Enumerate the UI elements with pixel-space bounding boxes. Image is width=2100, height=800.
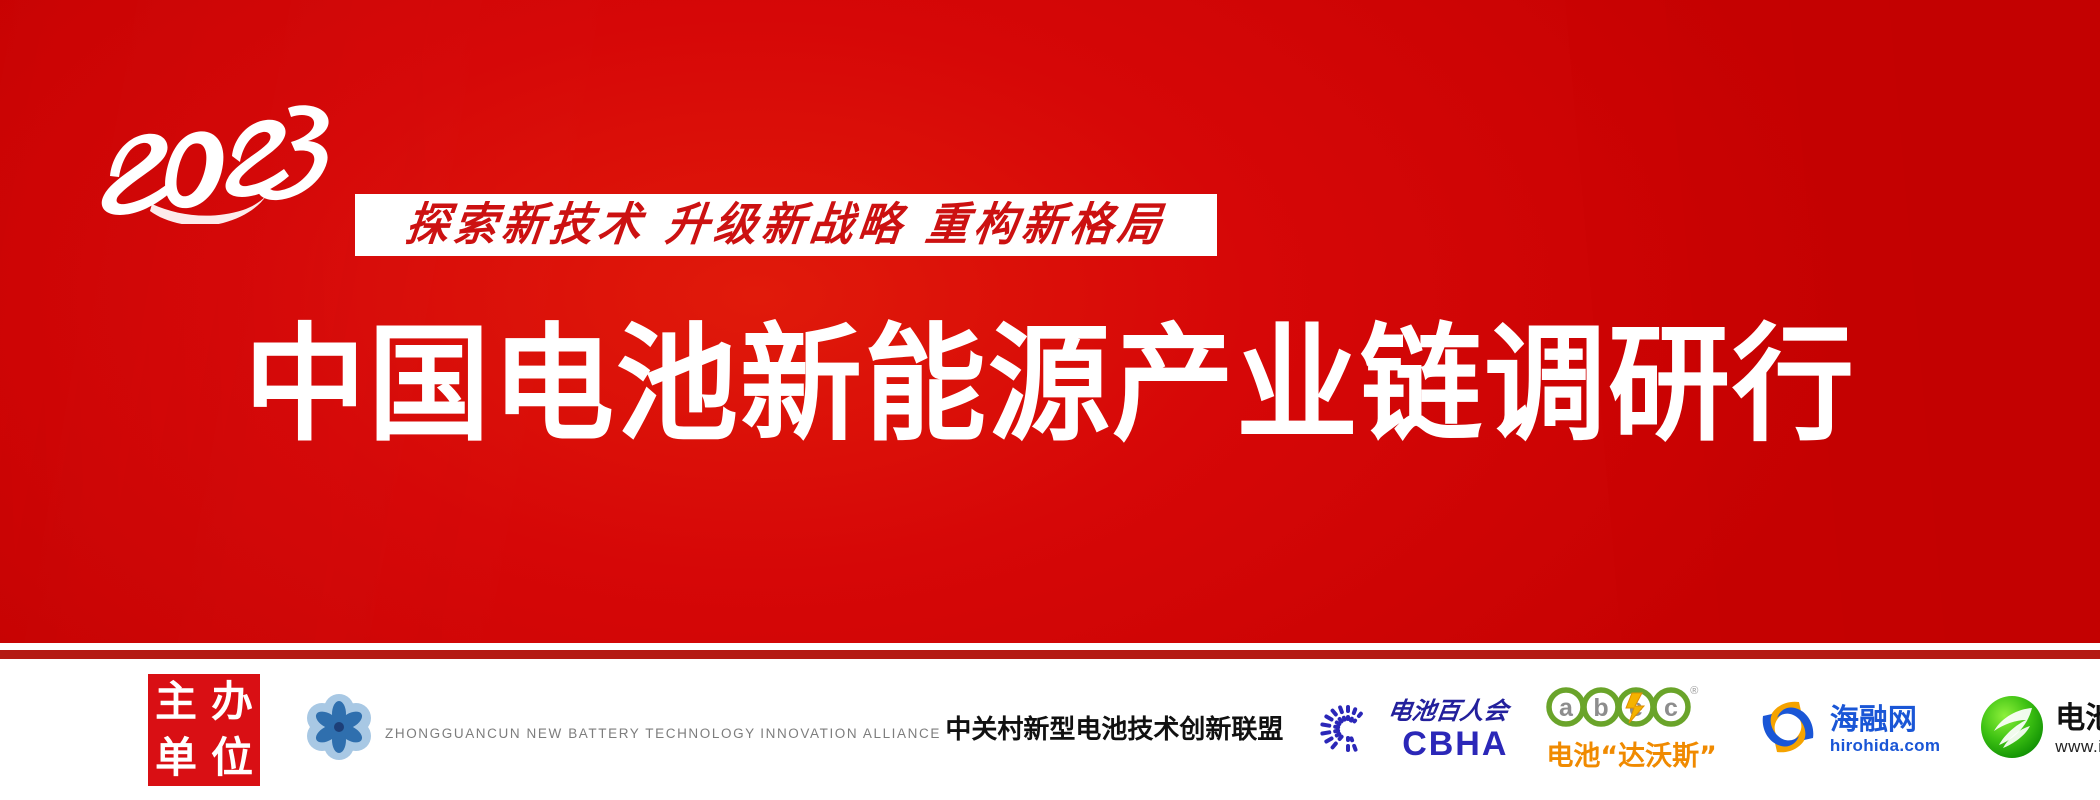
flower-mark-icon — [302, 690, 376, 769]
svg-text:b: b — [1594, 694, 1609, 722]
hirohida-url: hirohida.com — [1830, 737, 1940, 754]
organizer-char-ban: 办 — [211, 681, 253, 723]
logo-itdcw[interactable]: 电池网 www.itdcw.com — [1978, 693, 2100, 766]
zgc-cn-name: 中关村新型电池技术创新联盟 — [945, 715, 1283, 745]
logo-text-zgc: ZHONGGUANCUN NEW BATTERY TECHNOLOGY INNO… — [385, 717, 1283, 743]
logo-text-itdcw: 电池网 www.itdcw.com — [2055, 704, 2100, 755]
organizer-char-zhu: 主 — [155, 681, 197, 723]
cbha-abbr: CBHA — [1388, 727, 1508, 761]
logo-text-hirohida: 海融网 hirohida.com — [1830, 705, 1940, 754]
registered-trademark-icon: ® — [1690, 685, 1698, 697]
radial-fan-icon — [1317, 696, 1379, 763]
organizer-badge: 主 办 单 位 — [148, 674, 260, 786]
sponsor-strip: 主 办 单 位 — [0, 659, 2100, 800]
swirl-globe-icon — [1755, 694, 1821, 765]
logo-text-cbha: 电池百人会 CBHA — [1388, 699, 1508, 761]
sponsor-logo-row: ZHONGGUANCUN NEW BATTERY TECHNOLOGY INNO… — [302, 687, 2100, 773]
abec-circles-icon: a b e c — [1546, 687, 1696, 732]
zgc-en-line2: INNOVATION ALLIANCE — [760, 726, 941, 741]
logo-abec[interactable]: a b e c ® 电池“达沃斯” — [1546, 687, 1717, 773]
abec-mark-wrap: a b e c ® — [1546, 687, 1696, 732]
headline-text: 中国电池新能源产业链调研行 — [244, 317, 1856, 454]
event-banner: 探索新技术 升级新战略 重构新格局 中国电池新能源产业链调研行 主 办 单 位 — [0, 0, 2100, 800]
itdcw-cn-name: 电池网 — [2055, 704, 2100, 734]
logo-zhongguancun-alliance[interactable]: ZHONGGUANCUN NEW BATTERY TECHNOLOGY INNO… — [302, 690, 1283, 769]
logo-hirohida[interactable]: 海融网 hirohida.com — [1755, 694, 1940, 765]
itdcw-url: www.itdcw.com — [2055, 738, 2100, 755]
tagline-plate: 探索新技术 升级新战略 重构新格局 — [355, 194, 1217, 256]
logo-cbha[interactable]: 电池百人会 CBHA — [1317, 696, 1508, 763]
divider-white-gap — [0, 643, 2100, 650]
page-title: 中国电池新能源产业链调研行 — [0, 320, 2100, 452]
year-2023-brush-logo — [92, 84, 342, 224]
organizer-char-dan: 单 — [155, 737, 197, 779]
abec-cn-name: 电池“达沃斯” — [1546, 734, 1717, 773]
zgc-en-line1: ZHONGGUANCUN NEW BATTERY TECHNOLOGY — [385, 726, 756, 741]
hero-red-background: 探索新技术 升级新战略 重构新格局 中国电池新能源产业链调研行 — [0, 0, 2100, 643]
divider-red-line — [0, 650, 2100, 659]
green-sphere-icon — [1978, 693, 2046, 766]
organizer-char-wei: 位 — [211, 737, 253, 779]
svg-text:a: a — [1559, 694, 1574, 722]
svg-text:c: c — [1664, 694, 1678, 722]
cbha-cn-name: 电池百人会 — [1387, 699, 1510, 723]
hirohida-cn-name: 海融网 — [1830, 705, 1940, 734]
tagline-text: 探索新技术 升级新战略 重构新格局 — [403, 202, 1169, 248]
